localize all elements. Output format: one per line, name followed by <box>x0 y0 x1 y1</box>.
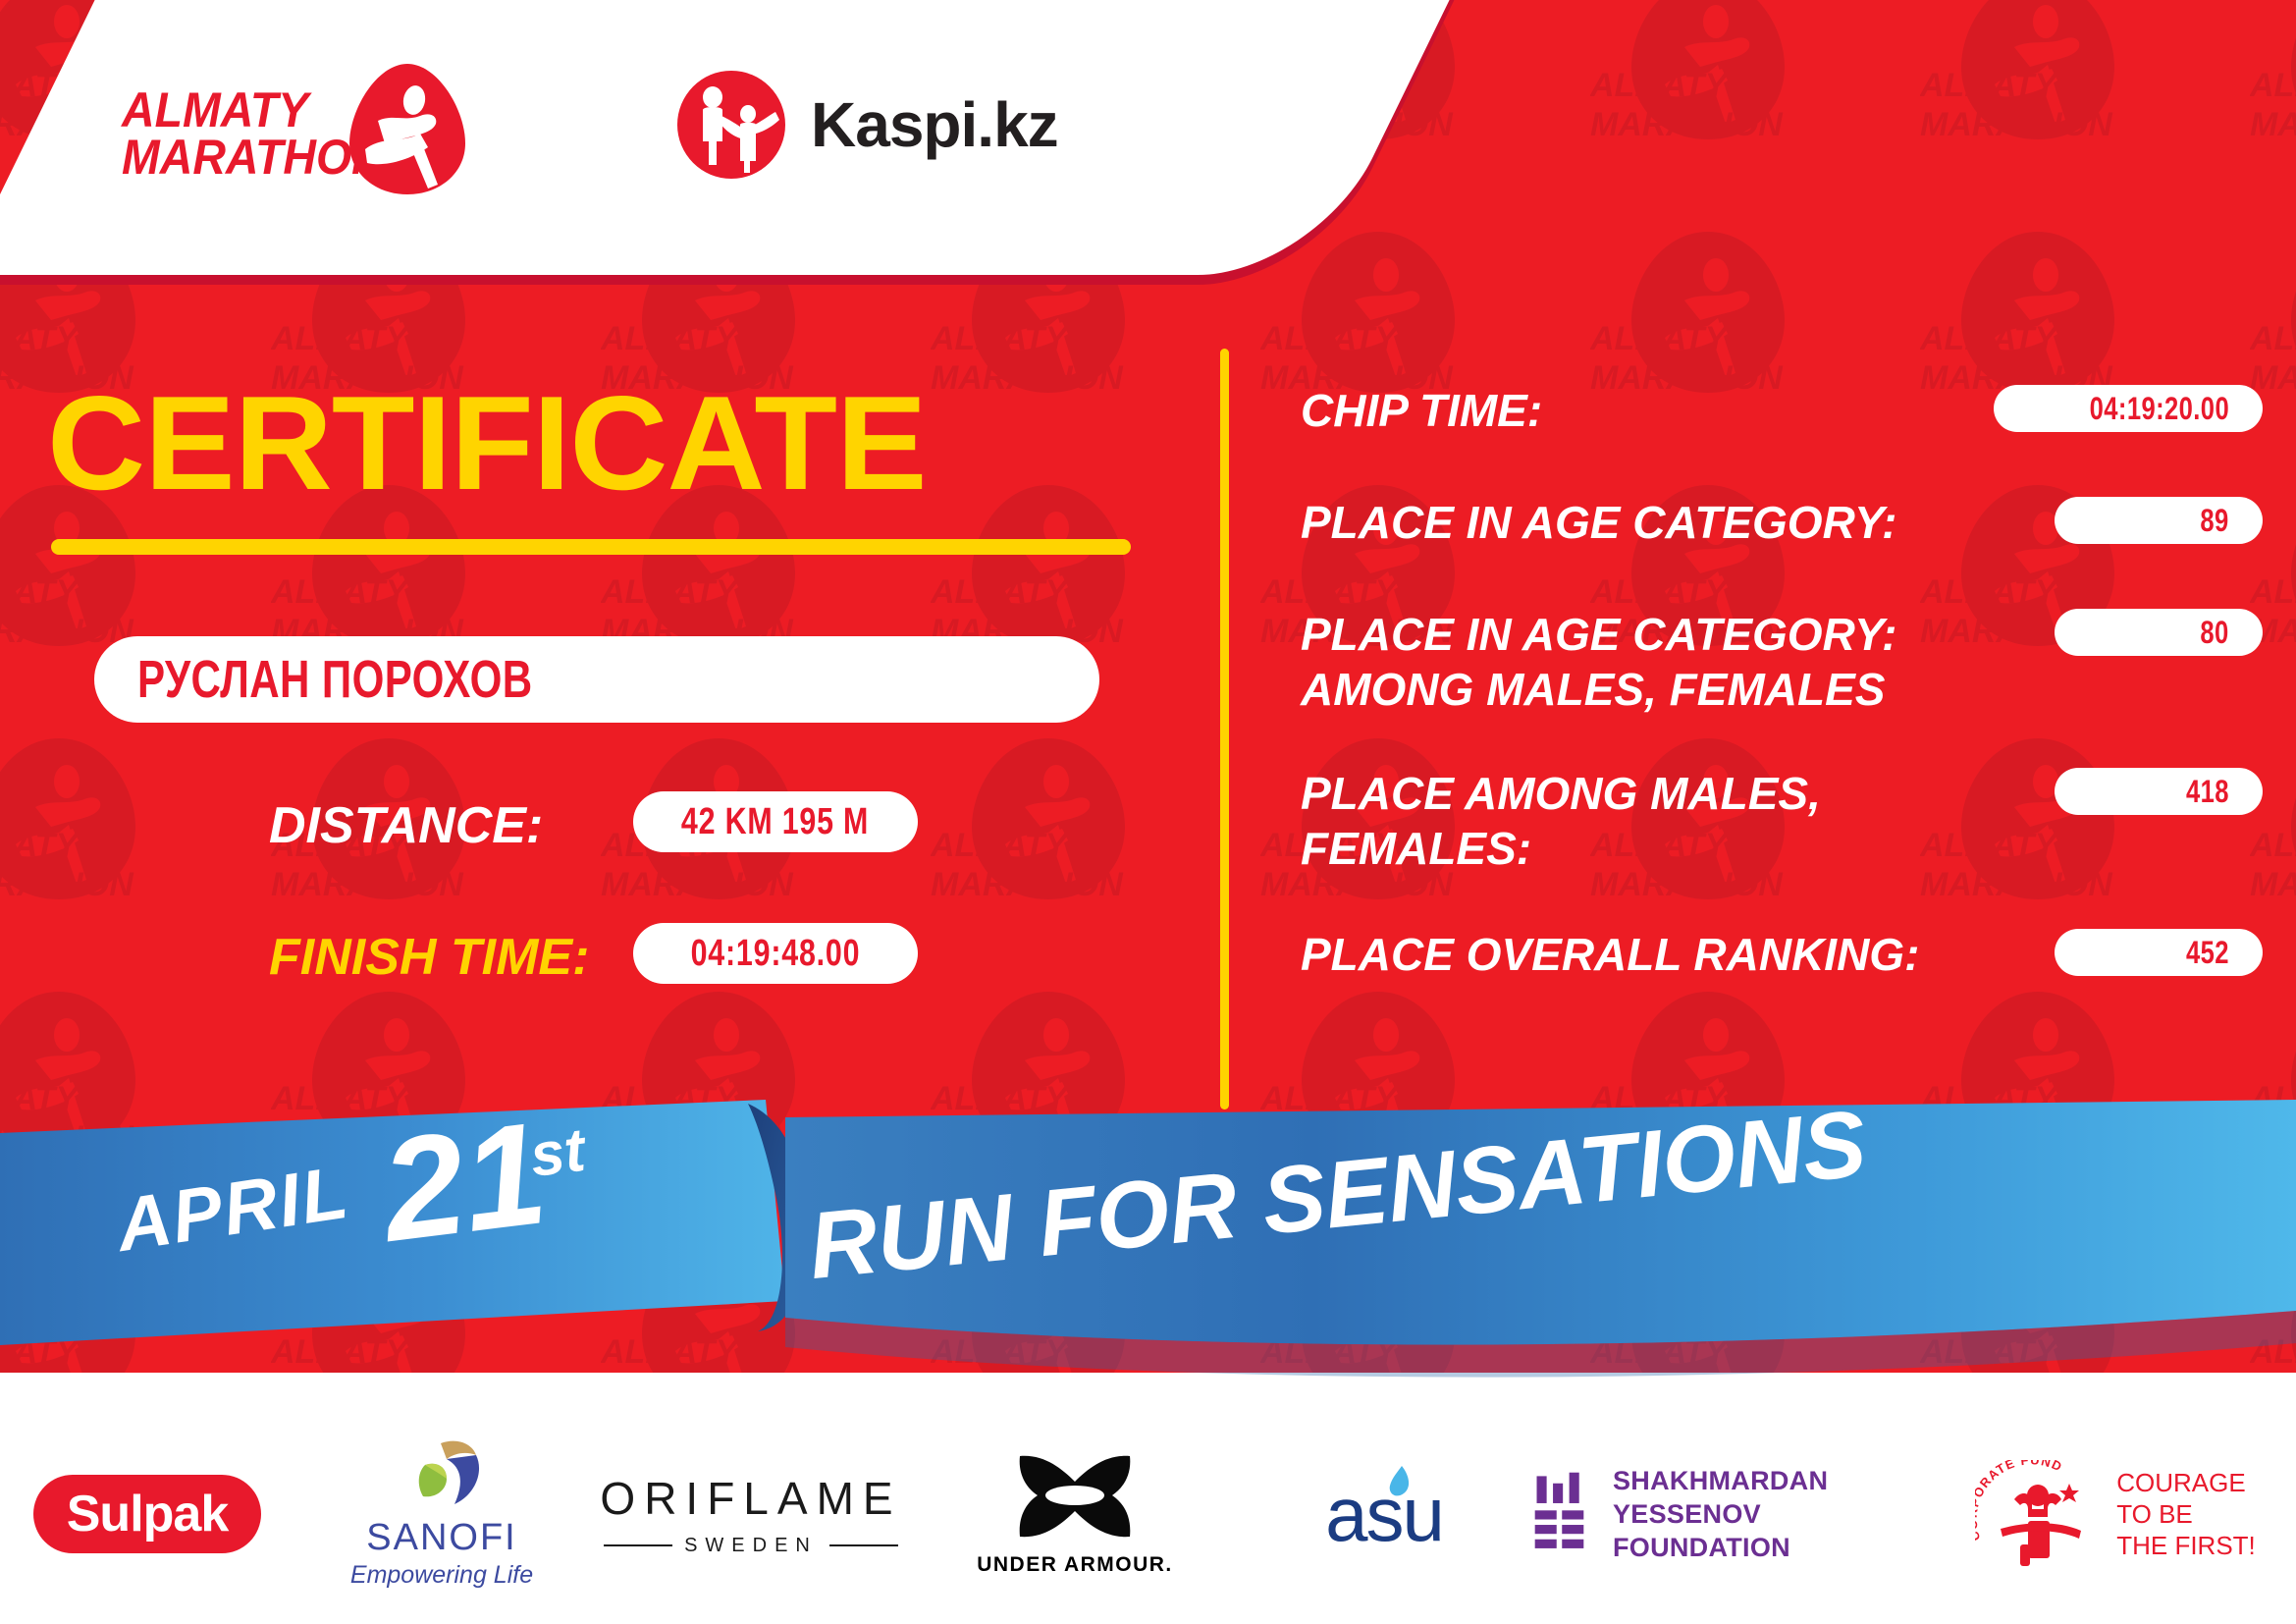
asu-droplet-icon <box>1384 1464 1414 1503</box>
kaspi-wordmark: Kaspi.kz <box>811 88 1058 161</box>
oriflame-wordmark: ORIFLAME <box>600 1472 901 1525</box>
stat-label-finish-time: FINISH TIME: <box>269 927 589 988</box>
certificate-canvas: ALMATY MARATHON ALMATY MARATHON <box>0 0 2296 1624</box>
stat-value-place-overall: 452 <box>2186 935 2229 971</box>
stat-value-distance: 42 KM 195 M <box>681 801 869 843</box>
under-armour-wordmark: UNDER ARMOUR. <box>977 1553 1173 1577</box>
participant-name-field: РУСЛАН ПОРОХОВ <box>94 636 1099 723</box>
kaspi-logo: Kaspi.kz <box>677 71 1058 179</box>
sponsor-asu: asu <box>1237 1440 1531 1588</box>
oriflame-rule-left <box>604 1544 672 1546</box>
stat-value-chip-time: 04:19:20.00 <box>2090 391 2229 427</box>
stat-label-distance: DISTANCE: <box>269 795 543 856</box>
stat-pill-distance: 42 KM 195 M <box>633 791 918 852</box>
participant-name: РУСЛАН ПОРОХОВ <box>137 649 533 710</box>
stat-value-finish-time: 04:19:48.00 <box>691 933 861 975</box>
certificate-title-block: CERTIFICATE <box>47 378 1147 555</box>
stat-row-place-age-category: PLACE IN AGE CATEGORY: 89 <box>1301 495 2263 550</box>
stat-value-place-age-category: 89 <box>2201 503 2229 539</box>
left-stats-list: DISTANCE: 42 KM 195 M FINISH TIME: 04:19… <box>0 795 1158 1029</box>
sponsor-bar: Sulpak SANOFI Empowering Life ORIFLAME S… <box>0 1404 2296 1624</box>
stat-row-place-among-gender: PLACE AMONG MALES, FEMALES: 418 <box>1301 766 2263 876</box>
yessenov-bars-icon <box>1531 1469 1587 1559</box>
stat-row-place-age-category-gender: PLACE IN AGE CATEGORY: AMONG MALES, FEMA… <box>1301 607 2263 717</box>
stat-pill-finish-time: 04:19:48.00 <box>633 923 918 984</box>
stat-value-place-age-category-gender: 80 <box>2201 615 2229 651</box>
stat-row-finish-time: FINISH TIME: 04:19:48.00 <box>0 927 1158 1029</box>
stat-label-place-among-gender: PLACE AMONG MALES, FEMALES: <box>1301 766 1978 876</box>
sanofi-wordmark: SANOFI <box>350 1517 533 1559</box>
stat-pill-place-age-category-gender: 80 <box>2055 609 2263 656</box>
under-armour-icon <box>1010 1452 1140 1543</box>
stat-label-chip-time: CHIP TIME: <box>1301 383 1978 438</box>
stat-row-chip-time: CHIP TIME: 04:19:20.00 <box>1301 383 2263 438</box>
stat-pill-place-age-category: 89 <box>2055 497 2263 544</box>
kaspi-people-circle-icon <box>677 71 785 179</box>
title-underline <box>51 539 1131 555</box>
sulpak-logo: Sulpak <box>33 1475 262 1553</box>
oriflame-tagline: SWEDEN <box>684 1535 818 1557</box>
yessenov-wordmark: SHAKHMARDAN YESSENOV FOUNDATION <box>1613 1464 1953 1564</box>
stat-value-place-among-gender: 418 <box>2186 774 2229 810</box>
stat-label-place-overall: PLACE OVERALL RANKING: <box>1301 927 1978 982</box>
stat-pill-place-among-gender: 418 <box>2055 768 2263 815</box>
courage-first-wordmark: COURAGE TO BE THE FIRST! <box>2116 1467 2256 1561</box>
sponsor-oriflame: ORIFLAME SWEDEN <box>589 1440 913 1588</box>
header-logos: ALMATY MARATHON Kaspi.kz <box>0 0 1227 285</box>
stat-row-place-overall: PLACE OVERALL RANKING: 452 <box>1301 927 2263 982</box>
sponsor-under-armour: UNDER ARMOUR. <box>913 1440 1237 1588</box>
page-title: CERTIFICATE <box>47 378 1168 508</box>
ribbon-ordinal: st <box>526 1115 588 1191</box>
sponsor-courage-first-fund: CORPORATE FUND COURAGE TO BE THE FIRST! <box>1953 1440 2277 1588</box>
sanofi-leaf-icon <box>398 1439 486 1512</box>
stat-label-place-age-category-gender: PLACE IN AGE CATEGORY: AMONG MALES, FEMA… <box>1301 607 1978 717</box>
sponsor-sanofi: SANOFI Empowering Life <box>294 1440 589 1588</box>
stat-label-place-age-category: PLACE IN AGE CATEGORY: <box>1301 495 1978 550</box>
almaty-marathon-drop-runner-icon <box>344 61 471 198</box>
almaty-marathon-logo: ALMATY MARATHON <box>122 61 455 198</box>
sanofi-tagline: Empowering Life <box>350 1561 533 1590</box>
right-stats-list: CHIP TIME: 04:19:20.00 PLACE IN AGE CATE… <box>1301 383 2263 1007</box>
courage-first-runner-icon: CORPORATE FUND <box>1975 1460 2103 1568</box>
stat-pill-place-overall: 452 <box>2055 929 2263 976</box>
oriflame-rule-right <box>829 1544 898 1546</box>
stat-pill-chip-time: 04:19:20.00 <box>1994 385 2263 432</box>
stat-row-distance: DISTANCE: 42 KM 195 M <box>0 795 1158 897</box>
sponsor-yessenov-foundation: SHAKHMARDAN YESSENOV FOUNDATION <box>1531 1440 1953 1588</box>
sponsor-sulpak: Sulpak <box>0 1440 294 1588</box>
yellow-vertical-divider <box>1220 349 1229 1110</box>
